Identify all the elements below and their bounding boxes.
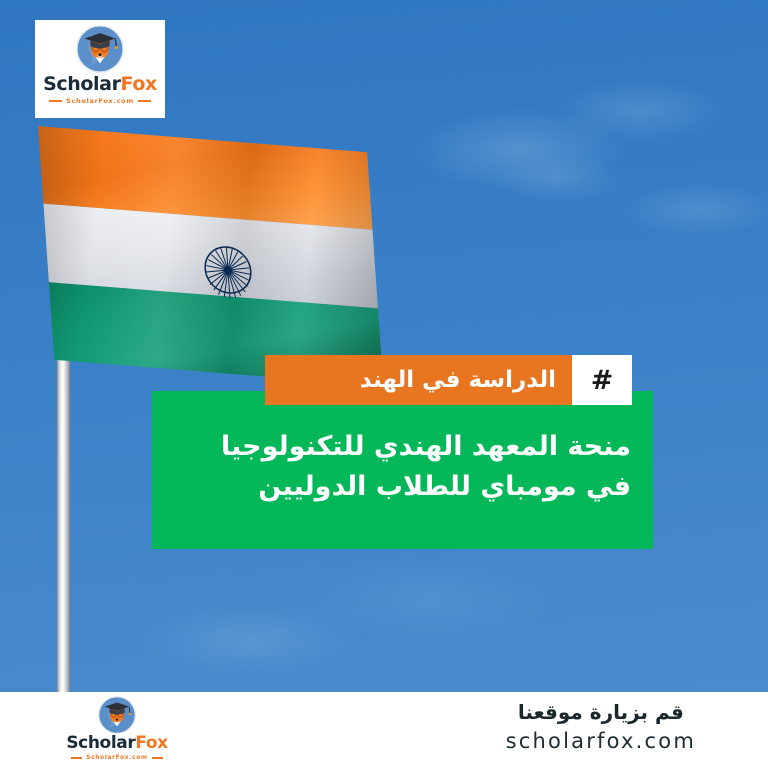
footer-website-url[interactable]: scholarfox.com <box>506 728 696 755</box>
india-flag <box>38 126 368 376</box>
wordmark-fox: Fox <box>121 73 157 95</box>
hashtag-box: # <box>572 355 632 405</box>
dash-right-decor <box>138 100 151 102</box>
kicker-bar: الدراسة في الهند <box>265 355 572 405</box>
poster-canvas: ScholarFox ScholarFox.com منحة المعهد ال… <box>0 0 768 768</box>
hashtag-symbol: # <box>591 367 614 394</box>
footer-wordmark-scholar: Scholar <box>66 733 135 753</box>
footer-subdomain-row: ScholarFox.com <box>71 755 162 761</box>
footer-bar: ScholarFox ScholarFox.com قم بزيارة موقع… <box>0 692 768 768</box>
brand-subdomain-row: ScholarFox.com <box>49 97 151 105</box>
fox-graduate-badge-icon <box>76 25 124 73</box>
footer-cta-group: قم بزيارة موقعنا scholarfox.com <box>506 700 696 755</box>
fox-graduate-badge-icon <box>98 696 136 734</box>
dash-right-decor <box>152 757 163 759</box>
dash-left-decor <box>71 757 82 759</box>
brand-wordmark: ScholarFox <box>43 75 157 94</box>
footer-subdomain: ScholarFox.com <box>86 755 147 761</box>
ashoka-chakra-icon <box>196 238 260 302</box>
footer-wordmark-fox: Fox <box>135 733 167 753</box>
headline-title: منحة المعهد الهندي للتكنولوجيا في مومباي… <box>181 427 631 507</box>
kicker-row: الدراسة في الهند # <box>265 355 632 405</box>
footer-wordmark: ScholarFox <box>66 735 167 752</box>
brand-subdomain: ScholarFox.com <box>66 97 134 105</box>
footer-cta-label: قم بزيارة موقعنا <box>506 700 696 725</box>
wordmark-scholar: Scholar <box>43 73 120 95</box>
headline-title-box: منحة المعهد الهندي للتكنولوجيا في مومباي… <box>152 391 653 549</box>
footer-brand-logo[interactable]: ScholarFox ScholarFox.com <box>52 696 182 761</box>
brand-logo-card[interactable]: ScholarFox ScholarFox.com <box>35 20 165 118</box>
kicker-label: الدراسة في الهند <box>360 367 556 393</box>
dash-left-decor <box>49 100 62 102</box>
